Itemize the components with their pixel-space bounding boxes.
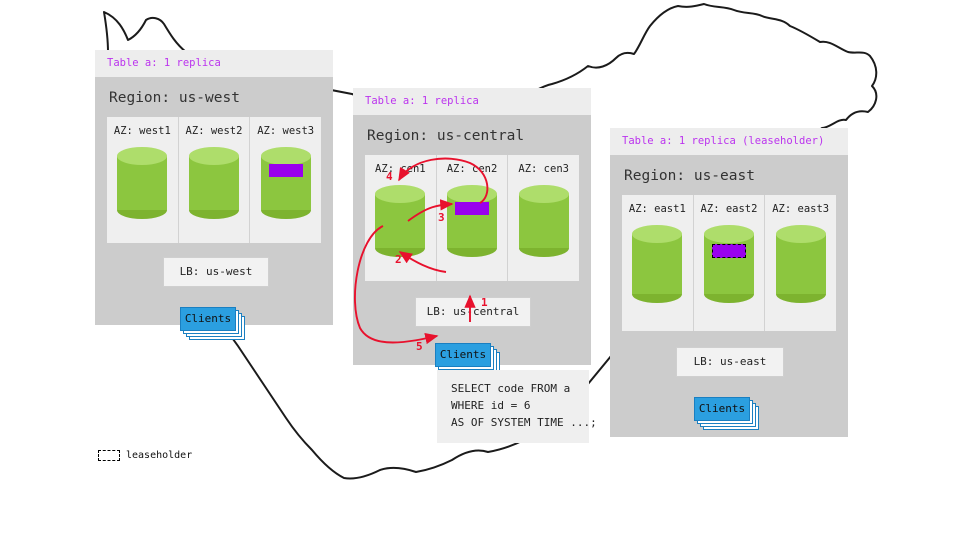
az-cell-cen2: AZ: cen2 xyxy=(437,155,509,281)
cylinder-top xyxy=(261,147,311,165)
cylinder-top xyxy=(519,185,569,203)
az-row-us-west: AZ: west1 AZ: west2 AZ xyxy=(107,117,321,243)
az-label-west1: AZ: west1 xyxy=(114,126,171,137)
cylinder-top xyxy=(375,185,425,203)
region-title-us-central: Region: us-central xyxy=(353,115,591,156)
az-label-east3: AZ: east3 xyxy=(772,204,829,215)
cylinder-east3 xyxy=(776,225,826,303)
region-us-central: Table a: 1 replica Region: us-central AZ… xyxy=(353,88,591,365)
sql-query-box: SELECT code FROM a WHERE id = 6 AS OF SY… xyxy=(437,370,589,443)
lb-us-east[interactable]: LB: us-east xyxy=(676,347,784,377)
cylinder-top xyxy=(776,225,826,243)
az-label-cen2: AZ: cen2 xyxy=(447,164,498,175)
region-title-us-west: Region: us-west xyxy=(95,77,333,118)
replica-west3 xyxy=(269,164,303,177)
cylinder-east2 xyxy=(704,225,754,303)
cylinder-top xyxy=(447,185,497,203)
region-body-us-west: Region: us-west AZ: west1 AZ: west2 xyxy=(95,77,333,325)
region-body-us-east: Region: us-east AZ: east1 AZ: east2 xyxy=(610,155,848,437)
az-label-cen1: AZ: cen1 xyxy=(375,164,426,175)
az-label-east2: AZ: east2 xyxy=(701,204,758,215)
az-cell-east2: AZ: east2 xyxy=(694,195,766,331)
cylinder-top xyxy=(189,147,239,165)
az-cell-west1: AZ: west1 xyxy=(107,117,179,243)
clients-us-west[interactable]: Clients xyxy=(180,307,242,337)
table-header-us-west: Table a: 1 replica xyxy=(95,50,333,77)
region-title-us-east: Region: us-east xyxy=(610,155,848,196)
cylinder-top xyxy=(704,225,754,243)
clients-label-us-central[interactable]: Clients xyxy=(435,343,491,367)
cylinder-cen1 xyxy=(375,185,425,257)
flow-number-1: 1 xyxy=(481,297,488,308)
cylinder-cen2 xyxy=(447,185,497,257)
dashed-rect-icon xyxy=(98,450,120,461)
region-us-west: Table a: 1 replica Region: us-west AZ: w… xyxy=(95,50,333,325)
diagram-canvas: Table a: 1 replica Region: us-west AZ: w… xyxy=(0,0,960,540)
cylinder-body xyxy=(632,234,682,294)
flow-number-2: 2 xyxy=(395,254,402,265)
cylinder-east1 xyxy=(632,225,682,303)
az-cell-west2: AZ: west2 xyxy=(179,117,251,243)
flow-number-5: 5 xyxy=(416,341,423,352)
cylinder-top xyxy=(117,147,167,165)
legend-leaseholder: leaseholder xyxy=(98,450,192,461)
flow-number-4: 4 xyxy=(386,171,393,182)
flow-number-3: 3 xyxy=(438,212,445,223)
clients-label-us-east[interactable]: Clients xyxy=(694,397,750,421)
replica-cen2 xyxy=(455,202,489,215)
region-us-east: Table a: 1 replica (leaseholder) Region:… xyxy=(610,128,848,437)
cylinder-top xyxy=(632,225,682,243)
region-body-us-central: Region: us-central AZ: cen1 AZ: cen2 xyxy=(353,115,591,365)
cylinder-west3 xyxy=(261,147,311,219)
lb-us-west[interactable]: LB: us-west xyxy=(163,257,269,287)
table-header-us-east: Table a: 1 replica (leaseholder) xyxy=(610,128,848,155)
az-cell-east3: AZ: east3 xyxy=(765,195,836,331)
az-label-east1: AZ: east1 xyxy=(629,204,686,215)
replica-leaseholder-east2 xyxy=(712,244,746,258)
cylinder-west1 xyxy=(117,147,167,219)
lb-us-central[interactable]: LB: us-central xyxy=(415,297,531,327)
table-header-us-central: Table a: 1 replica xyxy=(353,88,591,115)
cylinder-cen3 xyxy=(519,185,569,257)
az-label-west2: AZ: west2 xyxy=(186,126,243,137)
az-cell-east1: AZ: east1 xyxy=(622,195,694,331)
clients-label-us-west[interactable]: Clients xyxy=(180,307,236,331)
cylinder-body xyxy=(776,234,826,294)
clients-us-central[interactable]: Clients xyxy=(435,343,497,373)
cylinder-west2 xyxy=(189,147,239,219)
az-cell-cen3: AZ: cen3 xyxy=(508,155,579,281)
az-label-west3: AZ: west3 xyxy=(257,126,314,137)
cylinder-body xyxy=(704,234,754,294)
legend-label: leaseholder xyxy=(126,451,192,461)
clients-us-east[interactable]: Clients xyxy=(694,397,756,427)
az-row-us-east: AZ: east1 AZ: east2 xyxy=(622,195,836,331)
az-label-cen3: AZ: cen3 xyxy=(518,164,569,175)
az-cell-west3: AZ: west3 xyxy=(250,117,321,243)
